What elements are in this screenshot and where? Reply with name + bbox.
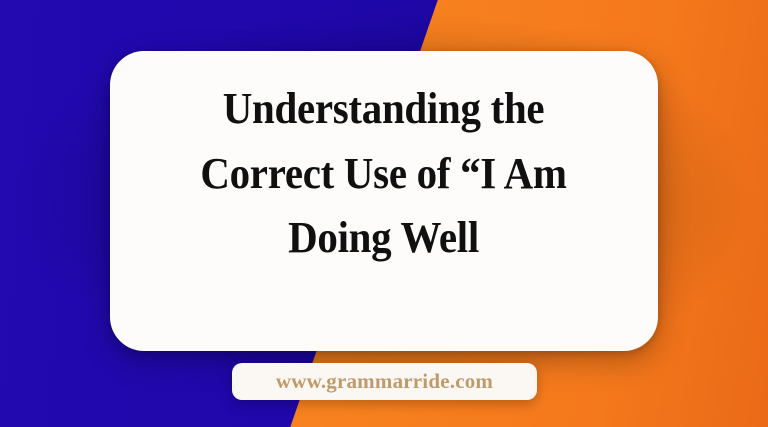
website-url-badge[interactable]: www.grammarride.com xyxy=(232,363,537,400)
title-line-3: Doing Well xyxy=(144,206,623,271)
title-line-1: Understanding the xyxy=(144,77,623,142)
website-url-text: www.grammarride.com xyxy=(276,369,493,394)
title-card: Understanding the Correct Use of “I Am D… xyxy=(110,51,658,351)
poster-canvas: Understanding the Correct Use of “I Am D… xyxy=(0,0,768,427)
title-line-2: Correct Use of “I Am xyxy=(144,142,623,207)
page-title: Understanding the Correct Use of “I Am D… xyxy=(144,77,623,271)
